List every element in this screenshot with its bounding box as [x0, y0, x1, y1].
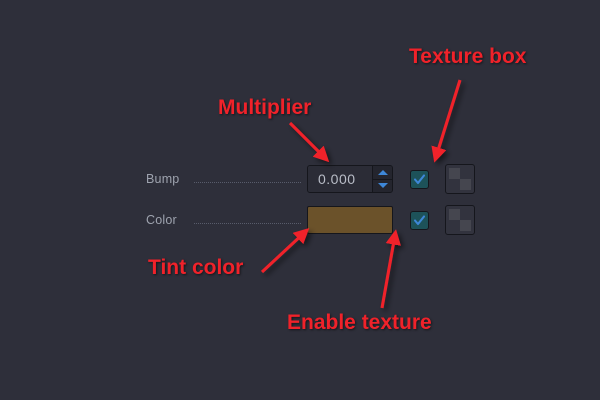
checker-cell [460, 209, 471, 220]
multiplier-value-bump[interactable]: 0.000 [308, 166, 372, 192]
annotation-label-tint-color: Tint color [148, 256, 243, 280]
leader-dots-bump [194, 181, 301, 183]
checker-cell [460, 168, 471, 179]
enable-texture-checkbox-bump[interactable] [410, 170, 429, 189]
arrow-enable-texture [382, 235, 395, 308]
leader-dots-color [194, 222, 301, 224]
down-arrow-icon [378, 183, 388, 188]
checker-cell [449, 179, 460, 190]
checker-cell [460, 220, 471, 231]
up-arrow-icon [378, 170, 388, 175]
arrow-multiplier [290, 123, 325, 158]
checkmark-icon [413, 214, 426, 227]
texture-box-color[interactable] [445, 205, 475, 235]
annotated-material-panel: Bump 0.000 Color [0, 0, 600, 400]
property-label-bump: Bump [146, 172, 188, 186]
property-label-color: Color [146, 213, 188, 227]
enable-texture-checkbox-color[interactable] [410, 211, 429, 230]
checker-cell [449, 168, 460, 179]
spinner-decrement-button[interactable] [373, 180, 392, 193]
property-row-bump: Bump 0.000 [146, 164, 475, 194]
multiplier-spinner-bump[interactable]: 0.000 [307, 165, 393, 193]
spinner-increment-button[interactable] [373, 166, 392, 180]
annotation-label-texture-box: Texture box [409, 45, 526, 69]
texture-box-bump[interactable] [445, 164, 475, 194]
checker-cell [460, 179, 471, 190]
checker-cell [449, 209, 460, 220]
annotation-label-multiplier: Multiplier [218, 96, 311, 120]
spinner-buttons-bump [372, 166, 392, 192]
property-row-color: Color [146, 205, 475, 235]
arrow-texture-box [436, 80, 460, 157]
arrow-tint-color [262, 232, 305, 272]
annotation-label-enable-texture: Enable texture [287, 311, 432, 335]
checkmark-icon [413, 173, 426, 186]
tint-color-swatch[interactable] [307, 206, 393, 234]
checker-cell [449, 220, 460, 231]
